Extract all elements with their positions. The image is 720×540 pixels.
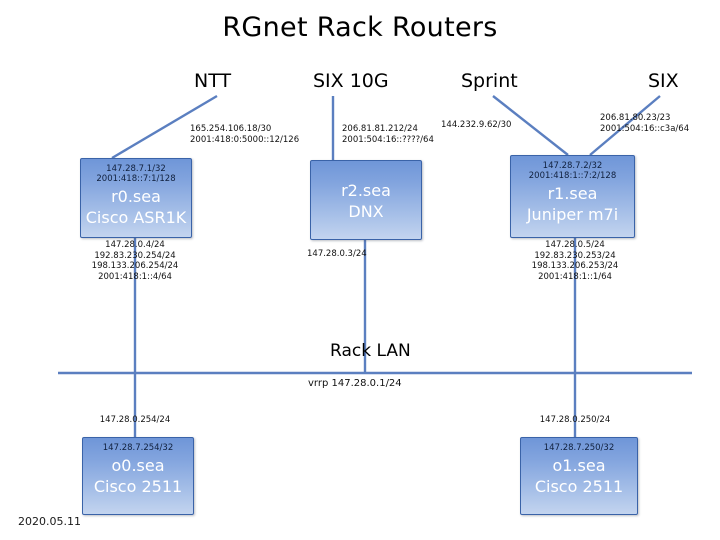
rack-lan-vrrp: vrrp 147.28.0.1/24 xyxy=(308,378,402,389)
router-r0-lan-addr-0: 147.28.0.4/24 xyxy=(75,240,195,251)
peer-addrs-sprint: 144.232.9.62/30 xyxy=(441,120,511,131)
peer-label-ntt: NTT xyxy=(194,70,231,92)
peer-ntt-v4: 165.254.106.18/30 xyxy=(190,124,299,135)
router-r0-lan-addr-1: 192.83.230.254/24 xyxy=(75,251,195,262)
router-r1-lan-addr-3: 2001:418:1::1/64 xyxy=(515,272,635,283)
router-r2-name: r2.sea xyxy=(341,180,391,201)
peer-label-sprint: Sprint xyxy=(461,70,518,92)
router-r1-loopback-v6: 2001:418:1::7:2/128 xyxy=(529,171,617,181)
router-r0-name: r0.sea xyxy=(111,186,161,207)
router-r2-lan-addrs: 147.28.0.3/24 xyxy=(307,249,367,260)
peer-label-six: SIX xyxy=(648,70,679,92)
rack-lan-label: Rack LAN xyxy=(330,341,411,361)
router-r0-lan-addrs: 147.28.0.4/24 192.83.230.254/24 198.133.… xyxy=(75,240,195,282)
date-stamp: 2020.05.11 xyxy=(18,515,81,528)
peer-six-v4: 206.81.80.23/23 xyxy=(600,113,689,124)
peer-ntt-v6: 2001:418:0:5000::12/126 xyxy=(190,135,299,146)
router-r0-model: Cisco ASR1K xyxy=(86,207,187,228)
router-node-r2[interactable]: r2.sea DNX xyxy=(310,160,422,240)
console-o0-name: o0.sea xyxy=(111,455,164,476)
router-r1-name: r1.sea xyxy=(548,183,598,204)
console-o1-loopback-v4: 147.28.7.250/32 xyxy=(544,443,614,453)
console-o1-lan-addr: 147.28.0.250/24 xyxy=(515,415,635,426)
router-r2-model: DNX xyxy=(348,201,383,222)
console-o1-model: Cisco 2511 xyxy=(535,476,623,497)
peer-addrs-six-10g: 206.81.81.212/24 2001:504:16::????/64 xyxy=(342,124,434,145)
router-r1-lan-addr-0: 147.28.0.5/24 xyxy=(515,240,635,251)
peer-six10g-v4: 206.81.81.212/24 xyxy=(342,124,434,135)
router-r1-lan-addrs: 147.28.0.5/24 192.83.230.253/24 198.133.… xyxy=(515,240,635,282)
router-r1-loopback-v4: 147.28.7.2/32 xyxy=(543,161,603,171)
router-r0-lan-addr-2: 198.133.206.254/24 xyxy=(75,261,195,272)
peer-six10g-v6: 2001:504:16::????/64 xyxy=(342,135,434,146)
router-node-r0[interactable]: 147.28.7.1/32 2001:418::7:1/128 r0.sea C… xyxy=(80,158,192,238)
console-o0-model: Cisco 2511 xyxy=(94,476,182,497)
console-o0-lan-addr: 147.28.0.254/24 xyxy=(75,415,195,426)
router-r0-loopback-v6: 2001:418::7:1/128 xyxy=(96,174,175,184)
console-node-o0[interactable]: 147.28.7.254/32 o0.sea Cisco 2511 xyxy=(82,437,194,515)
peer-addrs-six: 206.81.80.23/23 2001:504:16::c3a/64 xyxy=(600,113,689,134)
diagram-canvas: RGnet Rack Routers NTT SIX 10G Sprint SI… xyxy=(0,0,720,540)
page-title: RGnet Rack Routers xyxy=(0,12,720,43)
router-r0-loopback-v4: 147.28.7.1/32 xyxy=(106,164,166,174)
console-o1-name: o1.sea xyxy=(552,455,605,476)
router-r0-lan-addr-3: 2001:418:1::4/64 xyxy=(75,272,195,283)
router-r2-lan-addr-0: 147.28.0.3/24 xyxy=(307,249,367,260)
peer-label-six-10g: SIX 10G xyxy=(313,70,389,92)
router-r1-lan-addr-2: 198.133.206.253/24 xyxy=(515,261,635,272)
router-r1-model: Juniper m7i xyxy=(527,204,618,225)
console-node-o1[interactable]: 147.28.7.250/32 o1.sea Cisco 2511 xyxy=(520,437,638,515)
router-node-r1[interactable]: 147.28.7.2/32 2001:418:1::7:2/128 r1.sea… xyxy=(510,155,635,238)
peer-addrs-ntt: 165.254.106.18/30 2001:418:0:5000::12/12… xyxy=(190,124,299,145)
router-r1-lan-addr-1: 192.83.230.253/24 xyxy=(515,251,635,262)
peer-six-v6: 2001:504:16::c3a/64 xyxy=(600,124,689,135)
console-o0-loopback-v4: 147.28.7.254/32 xyxy=(103,443,173,453)
peer-sprint-v4: 144.232.9.62/30 xyxy=(441,120,511,131)
